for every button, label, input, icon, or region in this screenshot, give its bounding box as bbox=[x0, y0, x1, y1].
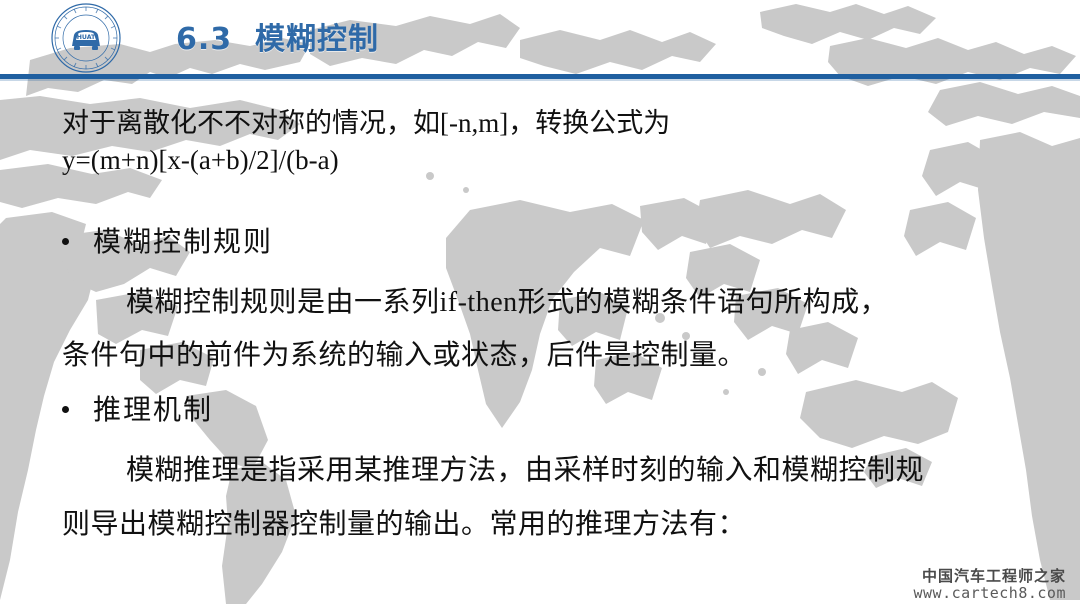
bullet-2-paragraph-line-2: 则导出模糊控制器控制量的输出。常用的推理方法有： bbox=[62, 502, 746, 542]
bullet-item-1-label: 模糊控制规则 bbox=[93, 220, 273, 260]
intro-formula: y=(m+n)[x-(a+b)/2]/(b-a) bbox=[62, 147, 339, 174]
watermark-chinese-text: 中国汽车工程师之家 bbox=[914, 568, 1067, 585]
bullet-1-paragraph-line-1: 模糊控制规则是由一系列if-then形式的模糊条件语句所构成， bbox=[126, 280, 888, 320]
slide-header bbox=[0, 0, 1080, 78]
bullet-2-paragraph-line-1: 模糊推理是指采用某推理方法，由采样时刻的输入和模糊控制规 bbox=[126, 448, 924, 488]
bullet-1-paragraph-line-2: 条件句中的前件为系统的输入或状态，后件是控制量。 bbox=[62, 333, 746, 373]
bullet-item-1: 模糊控制规则 bbox=[62, 220, 273, 260]
page-title: 6.3 模糊控制 bbox=[176, 14, 379, 58]
bullet-item-2-label: 推理机制 bbox=[93, 388, 213, 428]
header-divider-shadow bbox=[0, 79, 1080, 81]
watermark: 中国汽车工程师之家 www.cartech8.com bbox=[914, 568, 1067, 603]
intro-line-1: 对于离散化不不对称的情况，如[-n,m]，转换公式为 bbox=[62, 110, 670, 137]
svg-text:HUAT: HUAT bbox=[77, 34, 96, 41]
bullet-dot-icon bbox=[62, 406, 69, 413]
bullet-item-2: 推理机制 bbox=[62, 388, 213, 428]
university-logo: HUAT bbox=[50, 2, 122, 74]
watermark-url: www.cartech8.com bbox=[914, 585, 1067, 602]
presentation-slide: HUAT 6.3 模糊控制 bbox=[0, 0, 1080, 608]
bullet-dot-icon bbox=[62, 238, 69, 245]
